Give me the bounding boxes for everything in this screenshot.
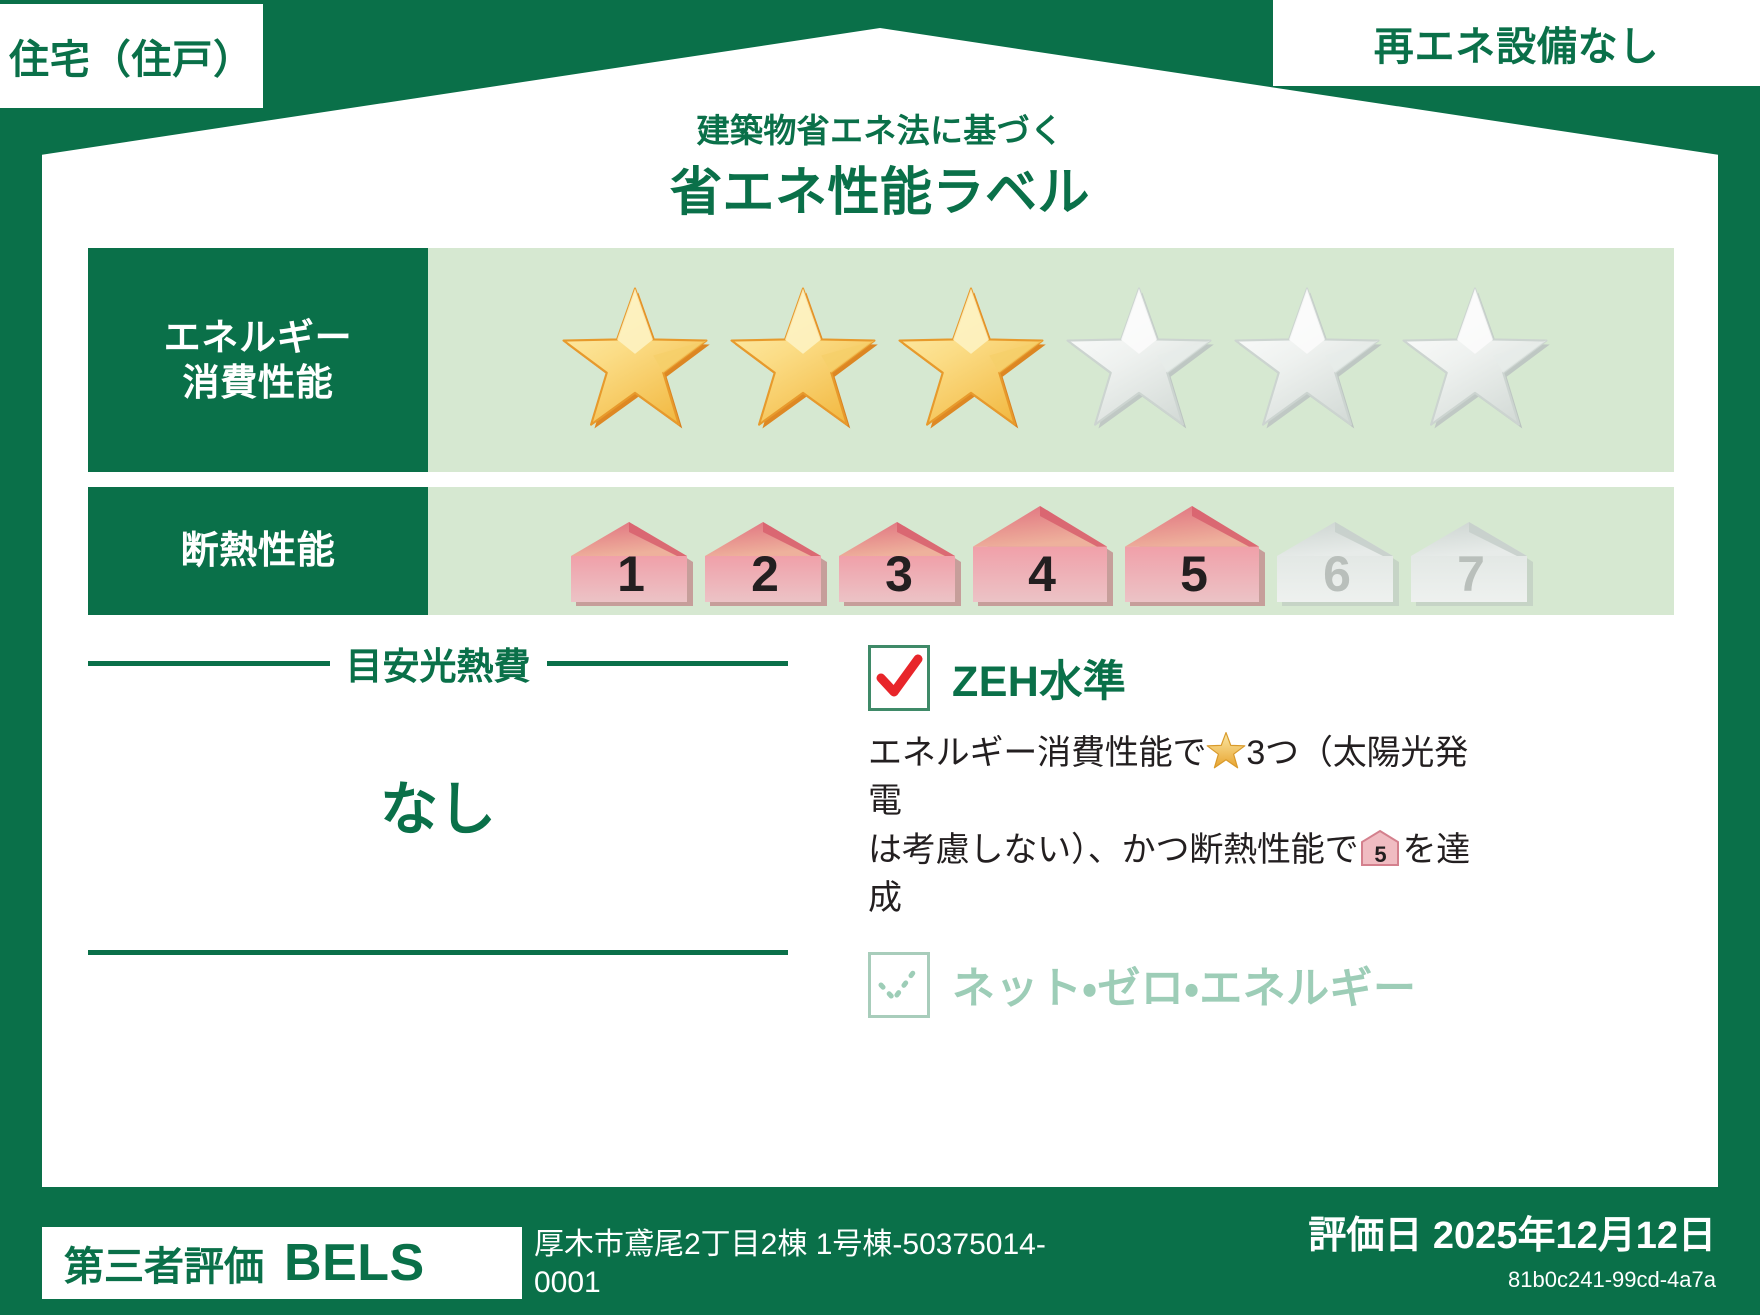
net-zero-energy-checkbox[interactable] xyxy=(868,952,930,1018)
evaluation-date: 評価日 2025年12月12日 xyxy=(1308,1204,1716,1259)
insulation-performance-row: 断熱性能 1234567 xyxy=(88,487,1674,615)
zeh-desc-part3: は考慮しない）、かつ断熱性能で xyxy=(868,831,1358,869)
energy-performance-stars-area xyxy=(428,248,1674,472)
inline-grade-number: 5 xyxy=(1360,844,1400,866)
insulation-grade-number: 7 xyxy=(1407,549,1535,599)
insulation-grade-scale: 1234567 xyxy=(428,503,1674,607)
property-name: 厚木市鳶尾2丁目2棟 1号棟-50375014-0001 xyxy=(534,1226,1054,1301)
insulation-grade-filled: 1 xyxy=(567,519,695,607)
badge-building-type: 住宅（住戸） xyxy=(0,4,263,108)
insulation-grade-filled: 3 xyxy=(835,519,963,607)
zeh-standard-label: ZEH水準 xyxy=(952,647,1126,709)
utility-rule-right xyxy=(547,661,789,666)
insulation-grade-filled: 5 xyxy=(1121,503,1267,607)
net-zero-energy-label: ネット・ゼロ・エネルギー xyxy=(952,954,1416,1016)
utility-cost-value: なし xyxy=(88,762,788,846)
utility-rule-left xyxy=(88,661,330,666)
inline-grade-badge: 5 xyxy=(1360,829,1400,867)
bels-logo: BELS xyxy=(284,1233,425,1293)
label-footer: 第三者評価 BELS 厚木市鳶尾2丁目2棟 1号棟-50375014-0001 … xyxy=(0,1187,1760,1315)
insulation-performance-grades-area: 1234567 xyxy=(428,487,1674,615)
star-filled-icon xyxy=(727,284,879,436)
insulation-grade-number: 1 xyxy=(567,549,695,599)
label-title: 省エネ性能ラベル xyxy=(0,150,1760,225)
insulation-grade-empty: 6 xyxy=(1273,519,1401,607)
zeh-desc-part1: エネルギー消費性能で xyxy=(868,734,1206,772)
bels-plate: 第三者評価 BELS xyxy=(42,1227,522,1299)
bels-energy-label: 住宅（住戸） 再エネ設備なし 建築物省エネ法に基づく 省エネ性能ラベル エネルギ… xyxy=(0,0,1760,1315)
energy-heading-line2: 消費性能 xyxy=(183,360,334,405)
insulation-performance-heading: 断熱性能 xyxy=(88,487,428,615)
zeh-checkbox[interactable] xyxy=(868,645,930,711)
inline-star-icon xyxy=(1206,731,1246,771)
net-zero-energy-row: ネット・ゼロ・エネルギー xyxy=(868,952,1488,1018)
insulation-grade-number: 4 xyxy=(969,549,1115,599)
label-subtitle: 建築物省エネ法に基づく xyxy=(0,104,1760,152)
insulation-grade-number: 3 xyxy=(835,549,963,599)
utility-cost-heading: 目安光熱費 xyxy=(346,636,531,690)
insulation-grade-filled: 2 xyxy=(701,519,829,607)
insulation-grade-empty: 7 xyxy=(1407,519,1535,607)
star-empty-icon xyxy=(1399,284,1551,436)
energy-performance-heading: エネルギー 消費性能 xyxy=(88,248,428,472)
zeh-block: ZEH水準 エネルギー消費性能で 3つ（太陽光発電 は考慮しない）、かつ断熱性能… xyxy=(868,645,1488,1018)
estimated-utility-cost-block: 目安光熱費 なし xyxy=(88,636,788,846)
zeh-description: エネルギー消費性能で 3つ（太陽光発電 は考慮しない）、かつ断熱性能で 5 を達… xyxy=(868,729,1488,922)
star-rating xyxy=(428,284,1674,436)
star-empty-icon xyxy=(1231,284,1383,436)
evaluation-id: 81b0c241-99cd-4a7a xyxy=(1508,1267,1716,1293)
insulation-grade-number: 2 xyxy=(701,549,829,599)
energy-heading-line1: エネルギー xyxy=(164,315,353,360)
energy-performance-row: エネルギー 消費性能 xyxy=(88,248,1674,472)
star-filled-icon xyxy=(895,284,1047,436)
third-party-evaluation-label: 第三者評価 xyxy=(64,1234,264,1292)
insulation-grade-number: 6 xyxy=(1273,549,1401,599)
zeh-standard-row: ZEH水準 xyxy=(868,645,1488,711)
utility-cost-heading-row: 目安光熱費 xyxy=(88,636,788,690)
insulation-grade-number: 5 xyxy=(1121,549,1267,599)
star-filled-icon xyxy=(559,284,711,436)
badge-renewable-equipment: 再エネ設備なし xyxy=(1273,0,1760,86)
insulation-grade-filled: 4 xyxy=(969,503,1115,607)
star-empty-icon xyxy=(1063,284,1215,436)
check-icon-faded xyxy=(871,955,927,1015)
check-icon xyxy=(871,648,927,708)
utility-bottom-divider xyxy=(88,950,788,955)
